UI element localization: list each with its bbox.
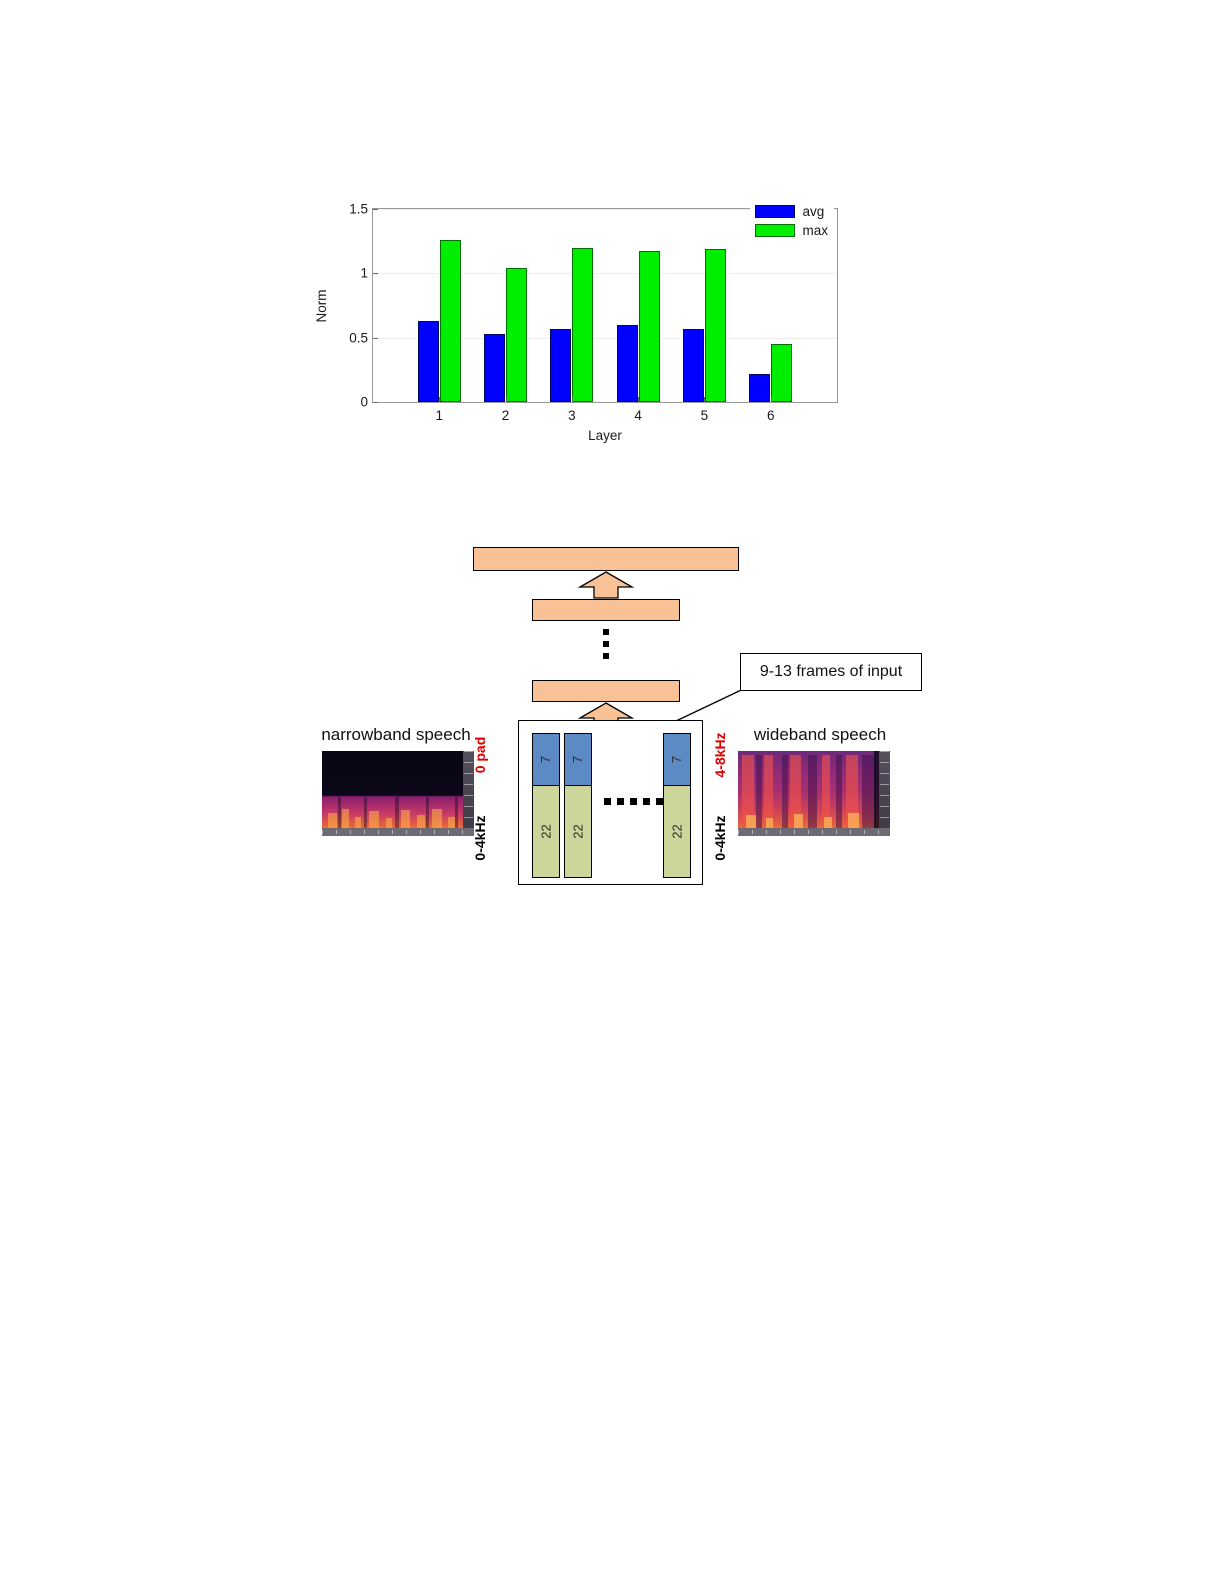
narrowband-spectrogram-canvas — [322, 751, 474, 836]
input-frames-box: 7 22 7 22 7 — [518, 720, 703, 885]
legend-label-avg: avg — [802, 204, 824, 219]
legend-swatch-avg — [755, 205, 795, 218]
bar-avg-layer-4 — [617, 325, 638, 402]
left-label-low-band: 0-4kHz — [472, 802, 488, 874]
right-label-high-band: 4-8kHz — [712, 719, 728, 791]
hidden-layer-upper-bar — [532, 599, 680, 621]
legend-label-max: max — [802, 223, 828, 238]
y-tick-label: 1 — [360, 266, 368, 281]
wideband-time-ruler — [738, 828, 890, 836]
x-tick-label: 5 — [701, 408, 709, 423]
frame-low-value: 22 — [539, 824, 554, 838]
ellipsis-dot — [603, 641, 609, 647]
y-tick-mark — [373, 402, 378, 403]
frame-low-band: 22 — [663, 786, 691, 878]
x-tick-mark — [439, 397, 440, 402]
ellipsis-dot — [630, 798, 637, 805]
up-arrow-upper — [578, 571, 634, 599]
input-frame-column: 7 22 — [663, 733, 691, 878]
y-tick-label: 1.5 — [349, 202, 368, 217]
x-tick-label: 2 — [502, 408, 510, 423]
ellipsis-dot — [603, 629, 609, 635]
x-tick-label: 1 — [436, 408, 444, 423]
legend-swatch-max — [755, 224, 795, 237]
x-axis-label: Layer — [372, 428, 838, 443]
x-tick-label: 3 — [568, 408, 576, 423]
bar-avg-layer-5 — [683, 329, 704, 402]
wideband-frequency-ruler — [879, 751, 890, 836]
bar-max-layer-6 — [771, 344, 792, 402]
y-tick-label: 0.5 — [349, 330, 368, 345]
narrowband-spectrogram — [322, 751, 474, 836]
legend-item-avg: avg — [755, 204, 828, 219]
y-tick-mark — [373, 273, 378, 274]
wideband-spectrogram — [738, 751, 890, 836]
y-tick-mark — [373, 209, 378, 210]
chart-legend: avg max — [750, 200, 834, 242]
y-axis-label: Norm — [314, 289, 329, 322]
narrowband-caption: narrowband speech — [316, 725, 476, 745]
ellipsis-dot — [603, 653, 609, 659]
narrowband-time-ruler — [322, 828, 474, 836]
bar-avg-layer-3 — [550, 329, 571, 402]
frame-low-value: 22 — [670, 824, 685, 838]
x-tick-mark — [638, 397, 639, 402]
input-frame-column: 7 22 — [564, 733, 592, 878]
dnn-input-diagram: 9-13 frames of input 7 22 7 22 — [300, 525, 920, 875]
bar-avg-layer-2 — [484, 334, 505, 402]
narrowband-frequency-ruler — [463, 751, 474, 836]
bar-max-layer-4 — [639, 251, 660, 402]
frame-low-value: 22 — [571, 824, 586, 838]
wideband-caption: wideband speech — [740, 725, 900, 745]
right-label-low-band: 0-4kHz — [712, 802, 728, 874]
x-tick-label: 4 — [634, 408, 642, 423]
callout-frames-of-input: 9-13 frames of input — [740, 653, 922, 691]
frame-high-band: 7 — [532, 733, 560, 786]
frame-high-value: 7 — [570, 756, 585, 763]
bar-max-layer-2 — [506, 268, 527, 402]
frame-high-band: 7 — [663, 733, 691, 786]
frame-high-value: 7 — [669, 756, 684, 763]
x-tick-mark — [704, 397, 705, 402]
y-tick-mark — [373, 338, 378, 339]
norm-bar-chart: Norm 00.511.5123456 Layer avg max — [336, 196, 838, 454]
bar-max-layer-5 — [705, 249, 726, 402]
legend-item-max: max — [755, 223, 828, 238]
ellipsis-dot — [643, 798, 650, 805]
input-frame-column: 7 22 — [532, 733, 560, 878]
y-axis-label-wrap: Norm — [344, 208, 345, 403]
x-tick-label: 6 — [767, 408, 775, 423]
bar-max-layer-1 — [440, 240, 461, 402]
x-tick-mark — [771, 397, 772, 402]
frame-high-value: 7 — [538, 756, 553, 763]
bar-max-layer-3 — [572, 248, 593, 402]
frame-high-band: 7 — [564, 733, 592, 786]
ellipsis-dot — [617, 798, 624, 805]
wideband-spectrogram-canvas — [738, 751, 890, 836]
ellipsis-dot — [656, 798, 663, 805]
bar-avg-layer-1 — [418, 321, 439, 402]
frame-low-band: 22 — [564, 786, 592, 878]
x-tick-mark — [506, 397, 507, 402]
bar-avg-layer-6 — [749, 374, 770, 402]
x-tick-mark — [572, 397, 573, 402]
output-layer-bar — [473, 547, 739, 571]
frame-low-band: 22 — [532, 786, 560, 878]
ellipsis-dot — [604, 798, 611, 805]
callout-text: 9-13 frames of input — [760, 663, 902, 681]
layer-ellipsis-dots — [603, 629, 609, 659]
y-tick-label: 0 — [360, 395, 368, 410]
